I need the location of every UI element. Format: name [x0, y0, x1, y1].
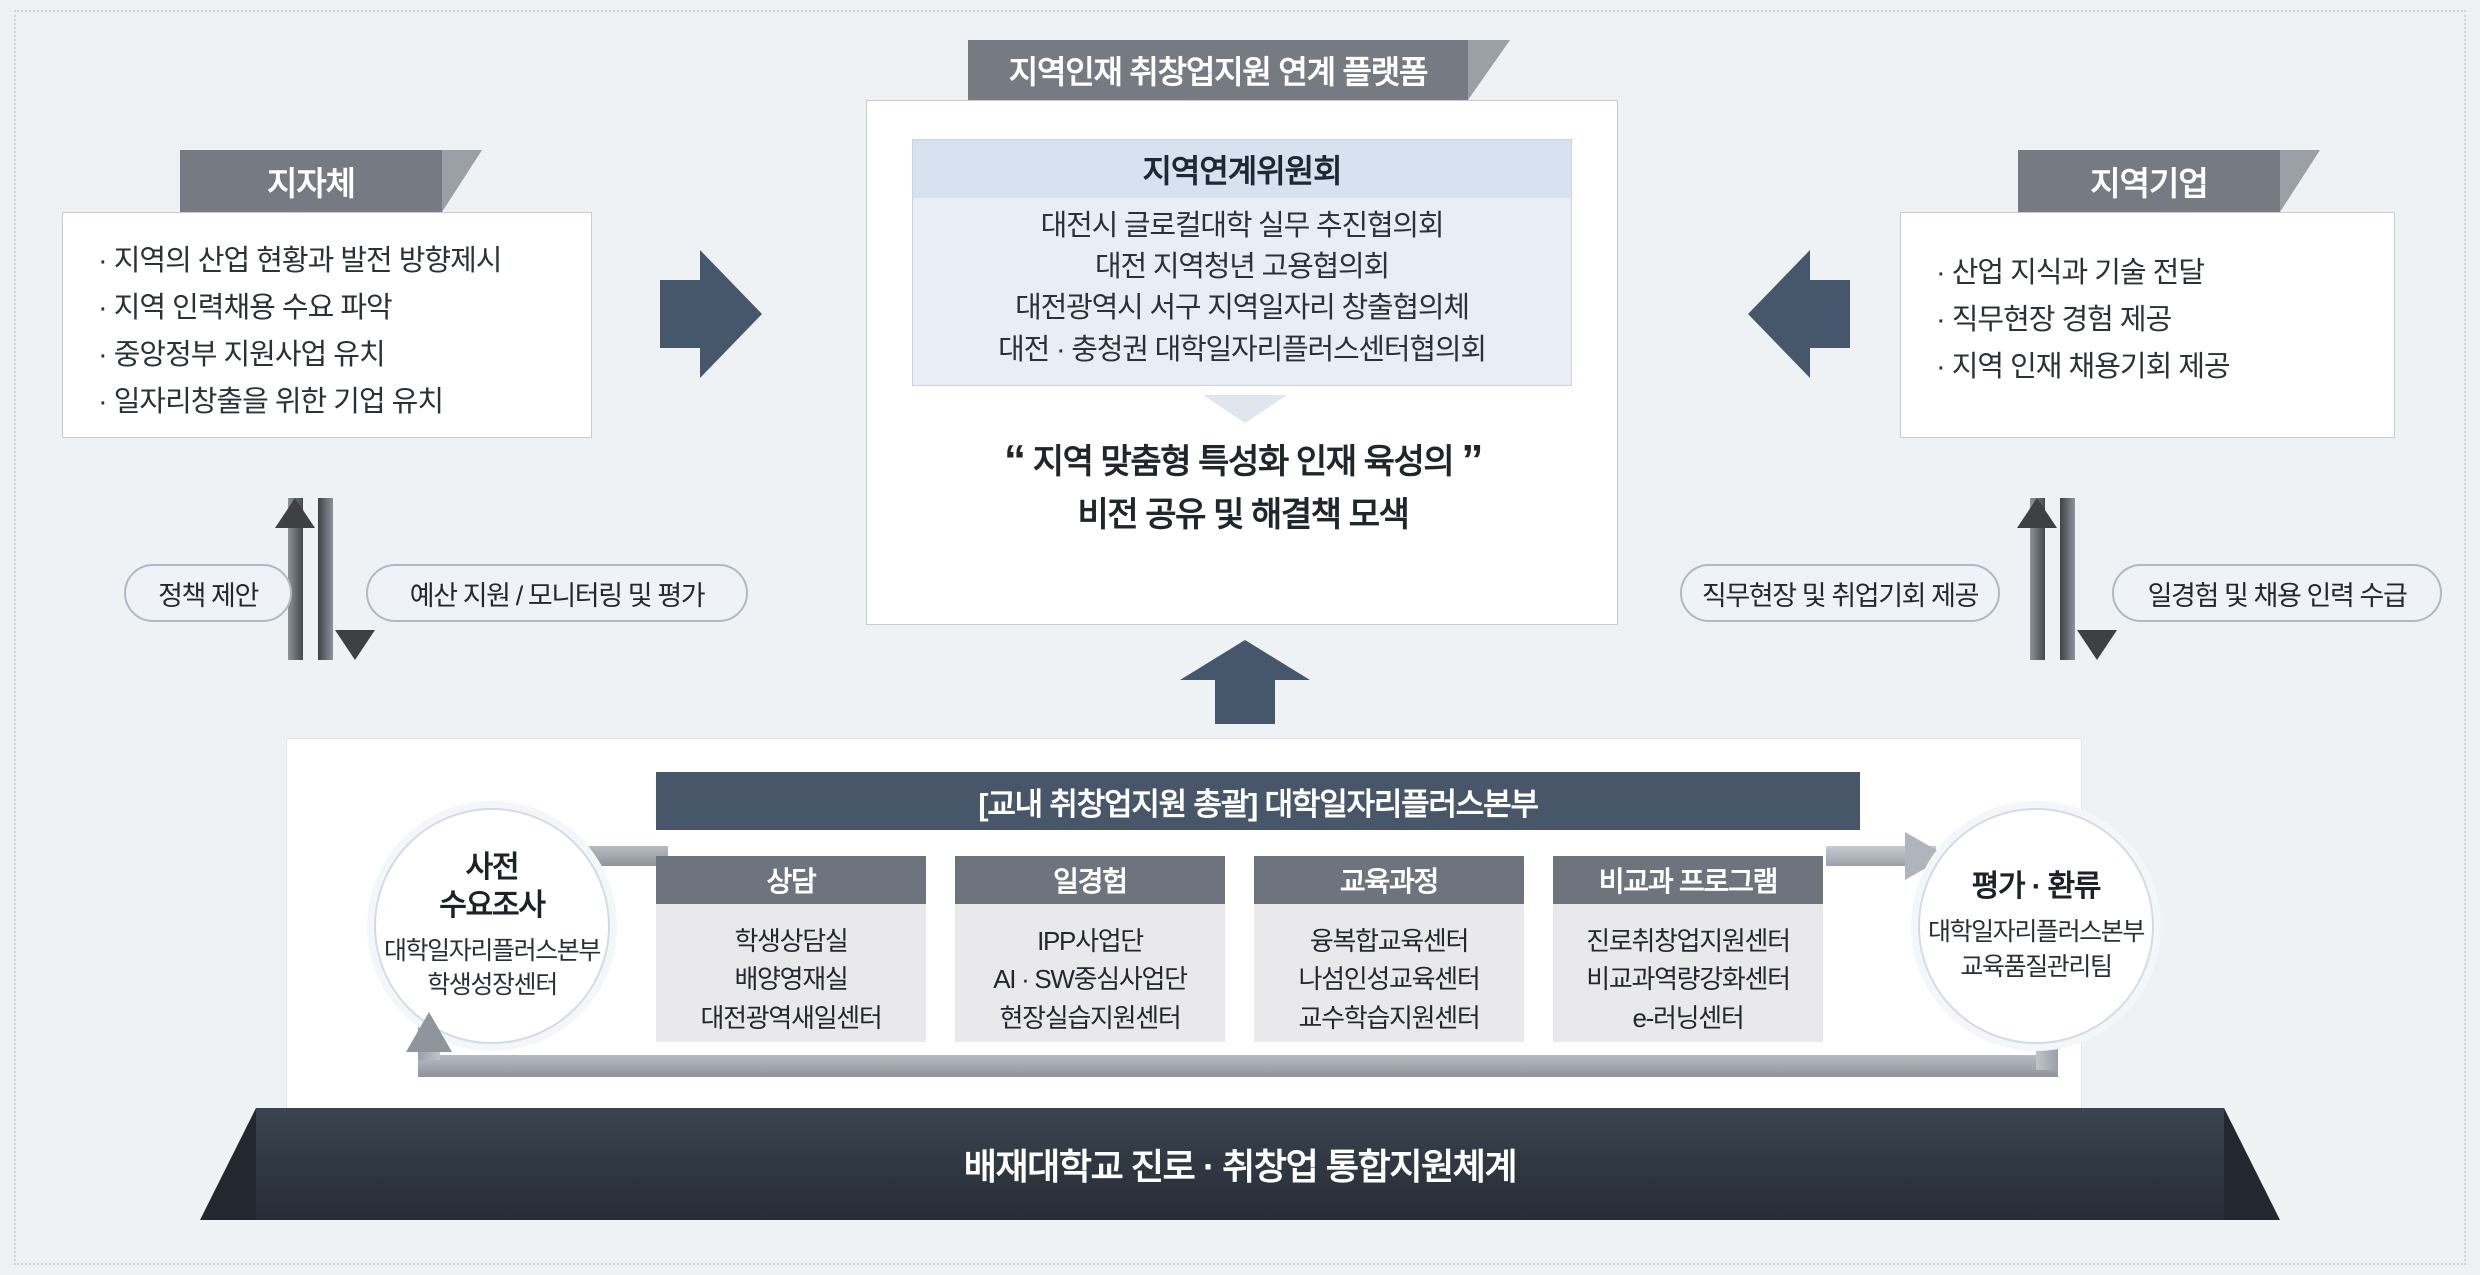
circle-evaluation-feedback: 평가 · 환류 대학일자리플러스본부 교육품질관리팀: [1918, 808, 2154, 1044]
local-company-tab: 지역기업: [2018, 150, 2280, 212]
bottom-banner: 배재대학교 진로 · 취창업 통합지원체계: [256, 1108, 2224, 1220]
arrow-down-head: [335, 630, 375, 660]
circle-title: 평가 · 환류: [1972, 868, 2101, 905]
list-item: 융복합교육센터: [1258, 922, 1520, 960]
circle-title-line-1: 평가 · 환류: [1972, 868, 2101, 905]
local-government-tab: 지자체: [180, 150, 442, 212]
list-item: 대전광역새일센터: [660, 999, 922, 1037]
circle-demand-survey: 사전 수요조사 대학일자리플러스본부 학생성장센터: [374, 808, 610, 1044]
list-item: 대전광역시 서구 지역일자리 창출협의체: [913, 288, 1571, 329]
arrow-right-icon: [660, 250, 770, 378]
list-item: 비교과역량강화센터: [1557, 960, 1819, 998]
column-extracurricular: 비교과 프로그램 진로취창업지원센터 비교과역량강화센터 e-러닝센터: [1553, 856, 1823, 1042]
bidirectional-arrow-left-icon: [288, 498, 350, 660]
column-header: 비교과 프로그램: [1553, 856, 1823, 904]
banner-left-bevel: [200, 1108, 256, 1220]
platform-tab: 지역인재 취창업지원 연계 플랫폼: [968, 40, 1468, 100]
column-curriculum: 교육과정 융복합교육센터 나섬인성교육센터 교수학습지원센터: [1254, 856, 1524, 1042]
quote-text-1: 지역 맞춤형 특성화 인재 육성의: [1033, 443, 1454, 481]
quote-open-icon: “: [1004, 436, 1025, 485]
column-header: 교육과정: [1254, 856, 1524, 904]
bottom-banner-wrap: 배재대학교 진로 · 취창업 통합지원체계: [200, 1108, 2280, 1220]
circle-sub-line-2: 학생성장센터: [384, 968, 600, 1003]
diagram-canvas: 지자체 · 지역의 산업 현황과 발전 방향제시 · 지역 인력채용 수요 파악…: [0, 0, 2480, 1275]
circle-sub-line-1: 대학일자리플러스본부: [384, 934, 600, 969]
tab-fold-icon: [1468, 40, 1510, 100]
pill-job-opportunity: 직무현장 및 취업기회 제공: [1680, 564, 2000, 622]
arrow-down-stem: [2060, 498, 2075, 660]
list-item: 대전시 글로컬대학 실무 추진협의회: [913, 206, 1571, 247]
banner-right-bevel: [2224, 1108, 2280, 1220]
arrow-down-head: [2077, 630, 2117, 660]
local-company-title: 지역기업: [2090, 157, 2207, 205]
list-item: 학생상담실: [660, 922, 922, 960]
committee-list: 대전시 글로컬대학 실무 추진협의회 대전 지역청년 고용협의회 대전광역시 서…: [913, 198, 1571, 371]
feedback-loop-bottom: [418, 1055, 2058, 1077]
circle-subtitle: 대학일자리플러스본부 학생성장센터: [384, 934, 600, 1003]
quote-line-1: “ 지역 맞춤형 특성화 인재 육성의 ”: [867, 431, 1619, 492]
list-item: 나섬인성교육센터: [1258, 960, 1520, 998]
circle-title: 사전 수요조사: [439, 849, 545, 923]
circle-title-line-1: 사전: [439, 849, 545, 886]
column-work-experience: 일경험 IPP사업단 AI · SW중심사업단 현장실습지원센터: [955, 856, 1225, 1042]
circle-sub-line-2: 교육품질관리팀: [1928, 950, 2144, 985]
arrow-up-head: [2017, 498, 2057, 528]
feedback-loop-arrow-icon: [406, 1012, 452, 1052]
list-item: e-러닝센터: [1557, 999, 1819, 1037]
pill-work-experience: 일경험 및 채용 인력 수급: [2112, 564, 2442, 622]
arrow-up-stem: [2030, 498, 2045, 660]
quote-text-2: 비전 공유 및 해결책 모색: [867, 492, 1619, 539]
arrow-head: [1748, 250, 1810, 378]
local-government-title: 지자체: [267, 157, 355, 205]
list-item: 대전 지역청년 고용협의회: [913, 247, 1571, 288]
list-item: 대전 · 충청권 대학일자리플러스센터협의회: [913, 330, 1571, 371]
column-body: 융복합교육센터 나섬인성교육센터 교수학습지원센터: [1254, 904, 1524, 1042]
tab-fold-icon: [442, 150, 482, 212]
vision-quote: “ 지역 맞춤형 특성화 인재 육성의 ” 비전 공유 및 해결책 모색: [867, 431, 1619, 539]
list-item: 진로취창업지원센터: [1557, 922, 1819, 960]
platform-box: 지역인재 취창업지원 연계 플랫폼 지역연계위원회 대전시 글로컬대학 실무 추…: [866, 40, 1618, 625]
pill-budget-monitoring: 예산 지원 / 모니터링 및 평가: [366, 564, 748, 622]
arrow-head: [700, 250, 762, 378]
arrow-up-head: [275, 498, 315, 528]
list-item: AI · SW중심사업단: [959, 960, 1221, 998]
committee-header: 지역연계위원회: [913, 140, 1571, 198]
list-item: 현장실습지원센터: [959, 999, 1221, 1037]
arrow-down-stem: [318, 498, 333, 660]
arrow-up-icon: [1180, 640, 1310, 720]
column-header: 일경험: [955, 856, 1225, 904]
list-item: 교수학습지원센터: [1258, 999, 1520, 1037]
list-item: IPP사업단: [959, 922, 1221, 960]
arrow-up-stem: [288, 498, 303, 660]
arrow-stem: [1215, 674, 1275, 724]
column-body: IPP사업단 AI · SW중심사업단 현장실습지원센터: [955, 904, 1225, 1042]
circle-subtitle: 대학일자리플러스본부 교육품질관리팀: [1928, 915, 2144, 984]
platform-title: 지역인재 취창업지원 연계 플랫폼: [1009, 47, 1427, 93]
column-body: 진로취창업지원센터 비교과역량강화센터 e-러닝센터: [1553, 904, 1823, 1042]
tab-fold-icon: [2280, 150, 2320, 212]
platform-body: 지역연계위원회 대전시 글로컬대학 실무 추진협의회 대전 지역청년 고용협의회…: [866, 100, 1618, 625]
list-item: 배양영재실: [660, 960, 922, 998]
circle-sub-line-1: 대학일자리플러스본부: [1928, 915, 2144, 950]
column-counseling: 상담 학생상담실 배양영재실 대전광역새일센터: [656, 856, 926, 1042]
committee-panel: 지역연계위원회 대전시 글로컬대학 실무 추진협의회 대전 지역청년 고용협의회…: [912, 139, 1572, 386]
column-body: 학생상담실 배양영재실 대전광역새일센터: [656, 904, 926, 1042]
bidirectional-arrow-right-icon: [2030, 498, 2092, 660]
column-header: 상담: [656, 856, 926, 904]
chevron-down-icon: [1203, 395, 1287, 423]
department-bar: [교내 취창업지원 총괄] 대학일자리플러스본부: [656, 772, 1860, 830]
quote-close-icon: ”: [1461, 436, 1482, 485]
arrow-left-icon: [1740, 250, 1850, 378]
circle-title-line-2: 수요조사: [439, 887, 545, 924]
pill-policy-proposal: 정책 제안: [124, 564, 292, 622]
